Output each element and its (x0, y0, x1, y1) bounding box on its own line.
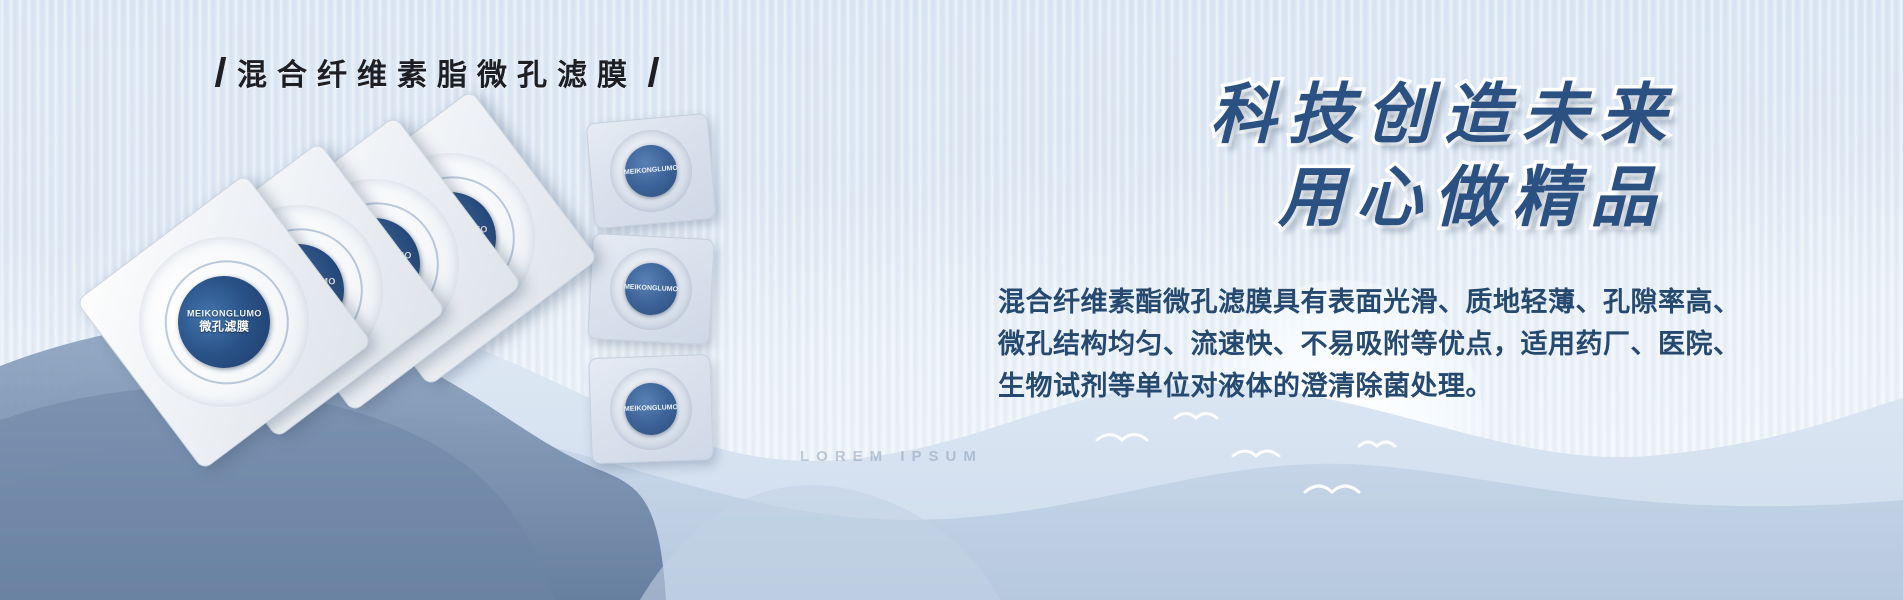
sample-label-text: MEIKONGLUMO (624, 404, 678, 414)
description-line: 混合纤维素酯微孔滤膜具有表面光滑、质地轻薄、孔隙率高、 (998, 282, 1678, 324)
headline-primary: 科技创造未来 (1210, 80, 1678, 149)
sample-disc: MEIKONGLUMO (607, 127, 696, 216)
headline-secondary: 用心做精品 (1210, 163, 1668, 232)
description-line: 微孔结构均匀、流速快、不易吸附等优点，适用药厂、医院、 (998, 324, 1678, 366)
sample-label-text: MEIKONGLUMO (624, 284, 678, 295)
product-sample: MEIKONGLUMO (587, 233, 714, 345)
watermark-text: LOREM IPSUM (800, 448, 983, 465)
eyebrow-title: 混合纤维素脂微孔滤膜 (218, 50, 656, 94)
headline-group: 科技创造未来 用心做精品 (1210, 80, 1678, 233)
product-sample: MEIKONGLUMO (586, 113, 717, 229)
product-sample: MEIKONGLUMO (588, 354, 714, 464)
product-label-cn: 微孔滤膜 (186, 321, 261, 335)
sample-disc: MEIKONGLUMO (608, 246, 694, 332)
eyebrow-title-text: 混合纤维素脂微孔滤膜 (237, 50, 637, 94)
description-paragraph: 混合纤维素酯微孔滤膜具有表面光滑、质地轻薄、孔隙率高、 微孔结构均匀、流速快、不… (998, 282, 1678, 408)
sample-label: MEIKONGLUMO (624, 382, 678, 436)
product-label-brand: MEIKONGLUMO (186, 309, 261, 319)
product-sample-column: MEIKONGLUMO MEIKONGLUMO MEIKONGLUMO (590, 118, 720, 458)
birds-decoration (1083, 400, 1413, 520)
product-label-text: MEIKONGLUMO 微孔滤膜 (186, 309, 261, 335)
promo-banner: MEIKONGLUMO 微孔滤膜 MEIKONGLUMO 孔滤膜 MEIKONG… (0, 0, 1903, 600)
sample-disc: MEIKONGLUMO (609, 367, 694, 452)
sample-label: MEIKONGLUMO (624, 262, 679, 317)
product-pack-stack: MEIKONGLUMO 微孔滤膜 MEIKONGLUMO 孔滤膜 MEIKONG… (118, 140, 558, 430)
sample-label-text: MEIKONGLUMO (624, 165, 679, 177)
sample-label: MEIKONGLUMO (623, 143, 679, 199)
description-line: 生物试剂等单位对液体的澄清除菌处理。 (998, 366, 1678, 408)
